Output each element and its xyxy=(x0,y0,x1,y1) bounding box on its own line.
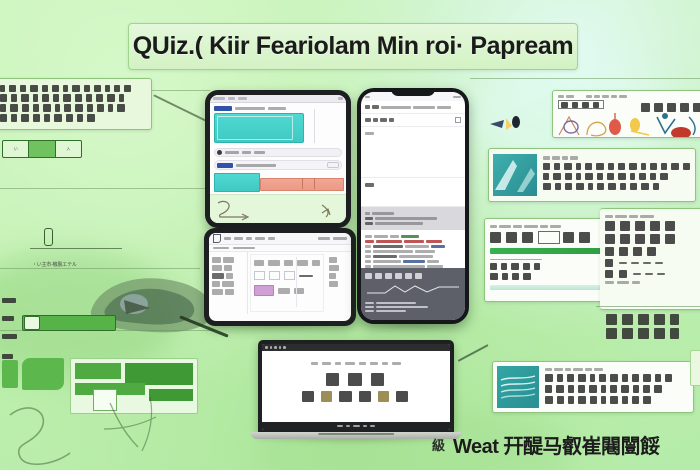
phone-chart-sparkline xyxy=(365,283,461,295)
browser-chrome[interactable] xyxy=(262,344,450,351)
panel2-big-line xyxy=(490,231,614,244)
panel-thumbnail xyxy=(493,154,537,196)
right-illustration-panel xyxy=(552,90,700,138)
toolbar-chip[interactable] xyxy=(213,97,225,101)
scribble-decoration xyxy=(0,395,210,470)
toolbar-chip[interactable] xyxy=(228,97,235,101)
tablet-device-top[interactable] xyxy=(205,90,351,228)
phone-body-block-1 xyxy=(361,127,465,178)
segment-option-3[interactable]: 入 xyxy=(56,141,81,157)
page-title-banner: QUiz.( Kiir Feariolam Min roi· Papream xyxy=(128,23,578,70)
illustration-caption-box xyxy=(558,100,604,109)
window-dot[interactable] xyxy=(270,346,273,349)
phone-device[interactable] xyxy=(357,88,469,324)
vertical-divider xyxy=(314,109,315,143)
bar-tick xyxy=(302,178,303,189)
tablet-top-row-header xyxy=(214,106,342,111)
tablet-top-input-row[interactable] xyxy=(214,160,342,170)
panel2-sub-line xyxy=(490,263,614,270)
input-action-icon[interactable] xyxy=(327,162,339,168)
tablet-top-bar-group xyxy=(214,173,342,191)
grid-app-body[interactable] xyxy=(209,252,351,314)
window-dot[interactable] xyxy=(283,346,286,349)
left-badge-shape xyxy=(2,360,18,388)
bar-tick xyxy=(314,178,315,189)
panel3-line xyxy=(605,270,699,278)
toolbar-chip-right[interactable] xyxy=(338,97,343,101)
left-chip-icon xyxy=(24,316,40,330)
tablet-device-bottom[interactable] xyxy=(204,228,356,326)
right-edge-chip xyxy=(690,350,700,386)
panel2-header-line xyxy=(490,225,614,228)
phone-screen[interactable] xyxy=(361,92,465,320)
form-card-cyan[interactable] xyxy=(214,113,304,143)
tile-b xyxy=(125,363,193,385)
bar-cyan xyxy=(214,173,260,192)
panel1-line xyxy=(543,173,692,180)
segment-option-1[interactable]: い xyxy=(3,141,29,157)
sparkle-mark xyxy=(486,112,526,140)
close-icon[interactable] xyxy=(455,117,461,123)
panel3-line xyxy=(605,234,699,244)
search-icon xyxy=(217,150,222,155)
footer-text: Weat 幵醍马叡崔闀闓餒 xyxy=(453,430,659,459)
grid-main-area[interactable] xyxy=(250,254,324,312)
tablet-top-lower-pane xyxy=(210,194,346,223)
left-badge-shape-2 xyxy=(22,358,64,390)
grid-cell-highlight[interactable] xyxy=(254,285,274,296)
tablet-top-toolbar[interactable] xyxy=(210,95,346,103)
tablet-top-search-row[interactable] xyxy=(214,148,342,157)
panel2-rule xyxy=(490,259,614,260)
segment-label-1: い xyxy=(14,146,18,152)
panel1-line xyxy=(543,163,692,170)
illustration-figures xyxy=(553,111,700,137)
phone-notch xyxy=(391,88,435,96)
screenshot-root: QUbizr( QUiz.( Kiir Feariolam Min roi· P… xyxy=(0,0,700,470)
caption-panel-line xyxy=(545,374,674,382)
left-panel-line xyxy=(0,85,146,92)
panel2-sub-line xyxy=(490,273,614,280)
toolbar-chip[interactable] xyxy=(238,97,247,101)
panel4-rule xyxy=(596,306,700,307)
panel2-progress-bar xyxy=(490,248,608,254)
segment-option-2[interactable] xyxy=(29,141,55,157)
caption-panel-thumbnail xyxy=(497,366,539,408)
phone-quote-block xyxy=(361,207,465,230)
browser-content xyxy=(262,351,450,430)
right-text-panel-4 xyxy=(606,312,700,344)
illustration-caption-small xyxy=(558,95,574,98)
left-segmented-control[interactable]: い 入 xyxy=(2,140,82,158)
hairline-2 xyxy=(0,188,240,189)
left-caption-text: ・い主市-機製エテル xyxy=(32,262,77,268)
segment-label-3: 入 xyxy=(66,146,70,152)
right-text-panel-3 xyxy=(600,208,700,310)
phone-dark-card xyxy=(361,268,465,320)
phone-body-block-2 xyxy=(361,178,465,207)
phone-header xyxy=(361,101,465,114)
grid-cell[interactable] xyxy=(284,271,295,280)
app-logo-icon xyxy=(213,234,221,243)
laptop-base xyxy=(251,432,461,439)
right-image-caption-panel xyxy=(492,361,694,413)
left-icon-glyph-stack xyxy=(2,292,18,326)
left-text-panel xyxy=(0,78,152,130)
panel3-line xyxy=(605,281,699,284)
panel3-line xyxy=(605,215,699,218)
tablet-top-screen[interactable] xyxy=(210,95,346,223)
grid-app-subbar[interactable] xyxy=(209,245,351,252)
hairline-5 xyxy=(470,78,700,79)
panel4-line xyxy=(606,328,700,339)
page-title: QUiz.( Kiir Feariolam Min roi· Papream xyxy=(133,32,573,61)
laptop-screen[interactable] xyxy=(262,344,450,430)
right-text-panel-1 xyxy=(488,148,696,202)
browser-status-bar xyxy=(262,422,450,430)
window-dot[interactable] xyxy=(279,346,282,349)
caption-panel-line xyxy=(545,396,674,404)
left-caption: ・い主市-機製エテル xyxy=(32,253,77,271)
tile-a xyxy=(75,363,121,379)
grid-cell[interactable] xyxy=(254,271,265,280)
grid-app-toolbar[interactable] xyxy=(209,233,351,245)
panel3-line xyxy=(605,259,699,267)
footer-badge: 級 xyxy=(432,435,445,454)
label-chip-blue xyxy=(214,106,232,111)
illustration-caption-small-2 xyxy=(586,95,627,98)
panel3-line xyxy=(605,247,699,256)
footer-row: 級 Weat 幵醍马叡崔闀闓餒 xyxy=(432,430,660,459)
left-caption-rule xyxy=(30,248,122,249)
window-dot[interactable] xyxy=(274,346,277,349)
window-dot[interactable] xyxy=(265,346,268,349)
caption-panel-line xyxy=(545,385,674,393)
phone-subheader[interactable] xyxy=(361,114,465,127)
panel1-title xyxy=(543,156,692,160)
grid-right-column[interactable] xyxy=(326,252,351,314)
panel4-line xyxy=(606,314,700,325)
left-panel-line xyxy=(0,104,146,112)
caption-panel-title xyxy=(545,368,674,371)
grid-left-column[interactable] xyxy=(209,252,248,314)
panel1-line xyxy=(543,183,692,190)
panel3-line xyxy=(605,221,699,231)
left-panel-line xyxy=(0,94,146,102)
grid-column-divider xyxy=(296,257,297,307)
panel2-footer-band xyxy=(490,285,612,290)
left-caption-marker xyxy=(44,228,53,246)
tablet-bottom-screen[interactable] xyxy=(209,233,351,321)
laptop-device[interactable] xyxy=(258,340,454,439)
left-panel-line xyxy=(0,114,146,122)
grid-cell[interactable] xyxy=(269,271,280,280)
panel2-empty-box xyxy=(538,231,560,244)
input-prefix-blue xyxy=(217,163,233,168)
laptop-lid xyxy=(258,340,454,432)
tablet-lower-arrows xyxy=(210,195,346,223)
